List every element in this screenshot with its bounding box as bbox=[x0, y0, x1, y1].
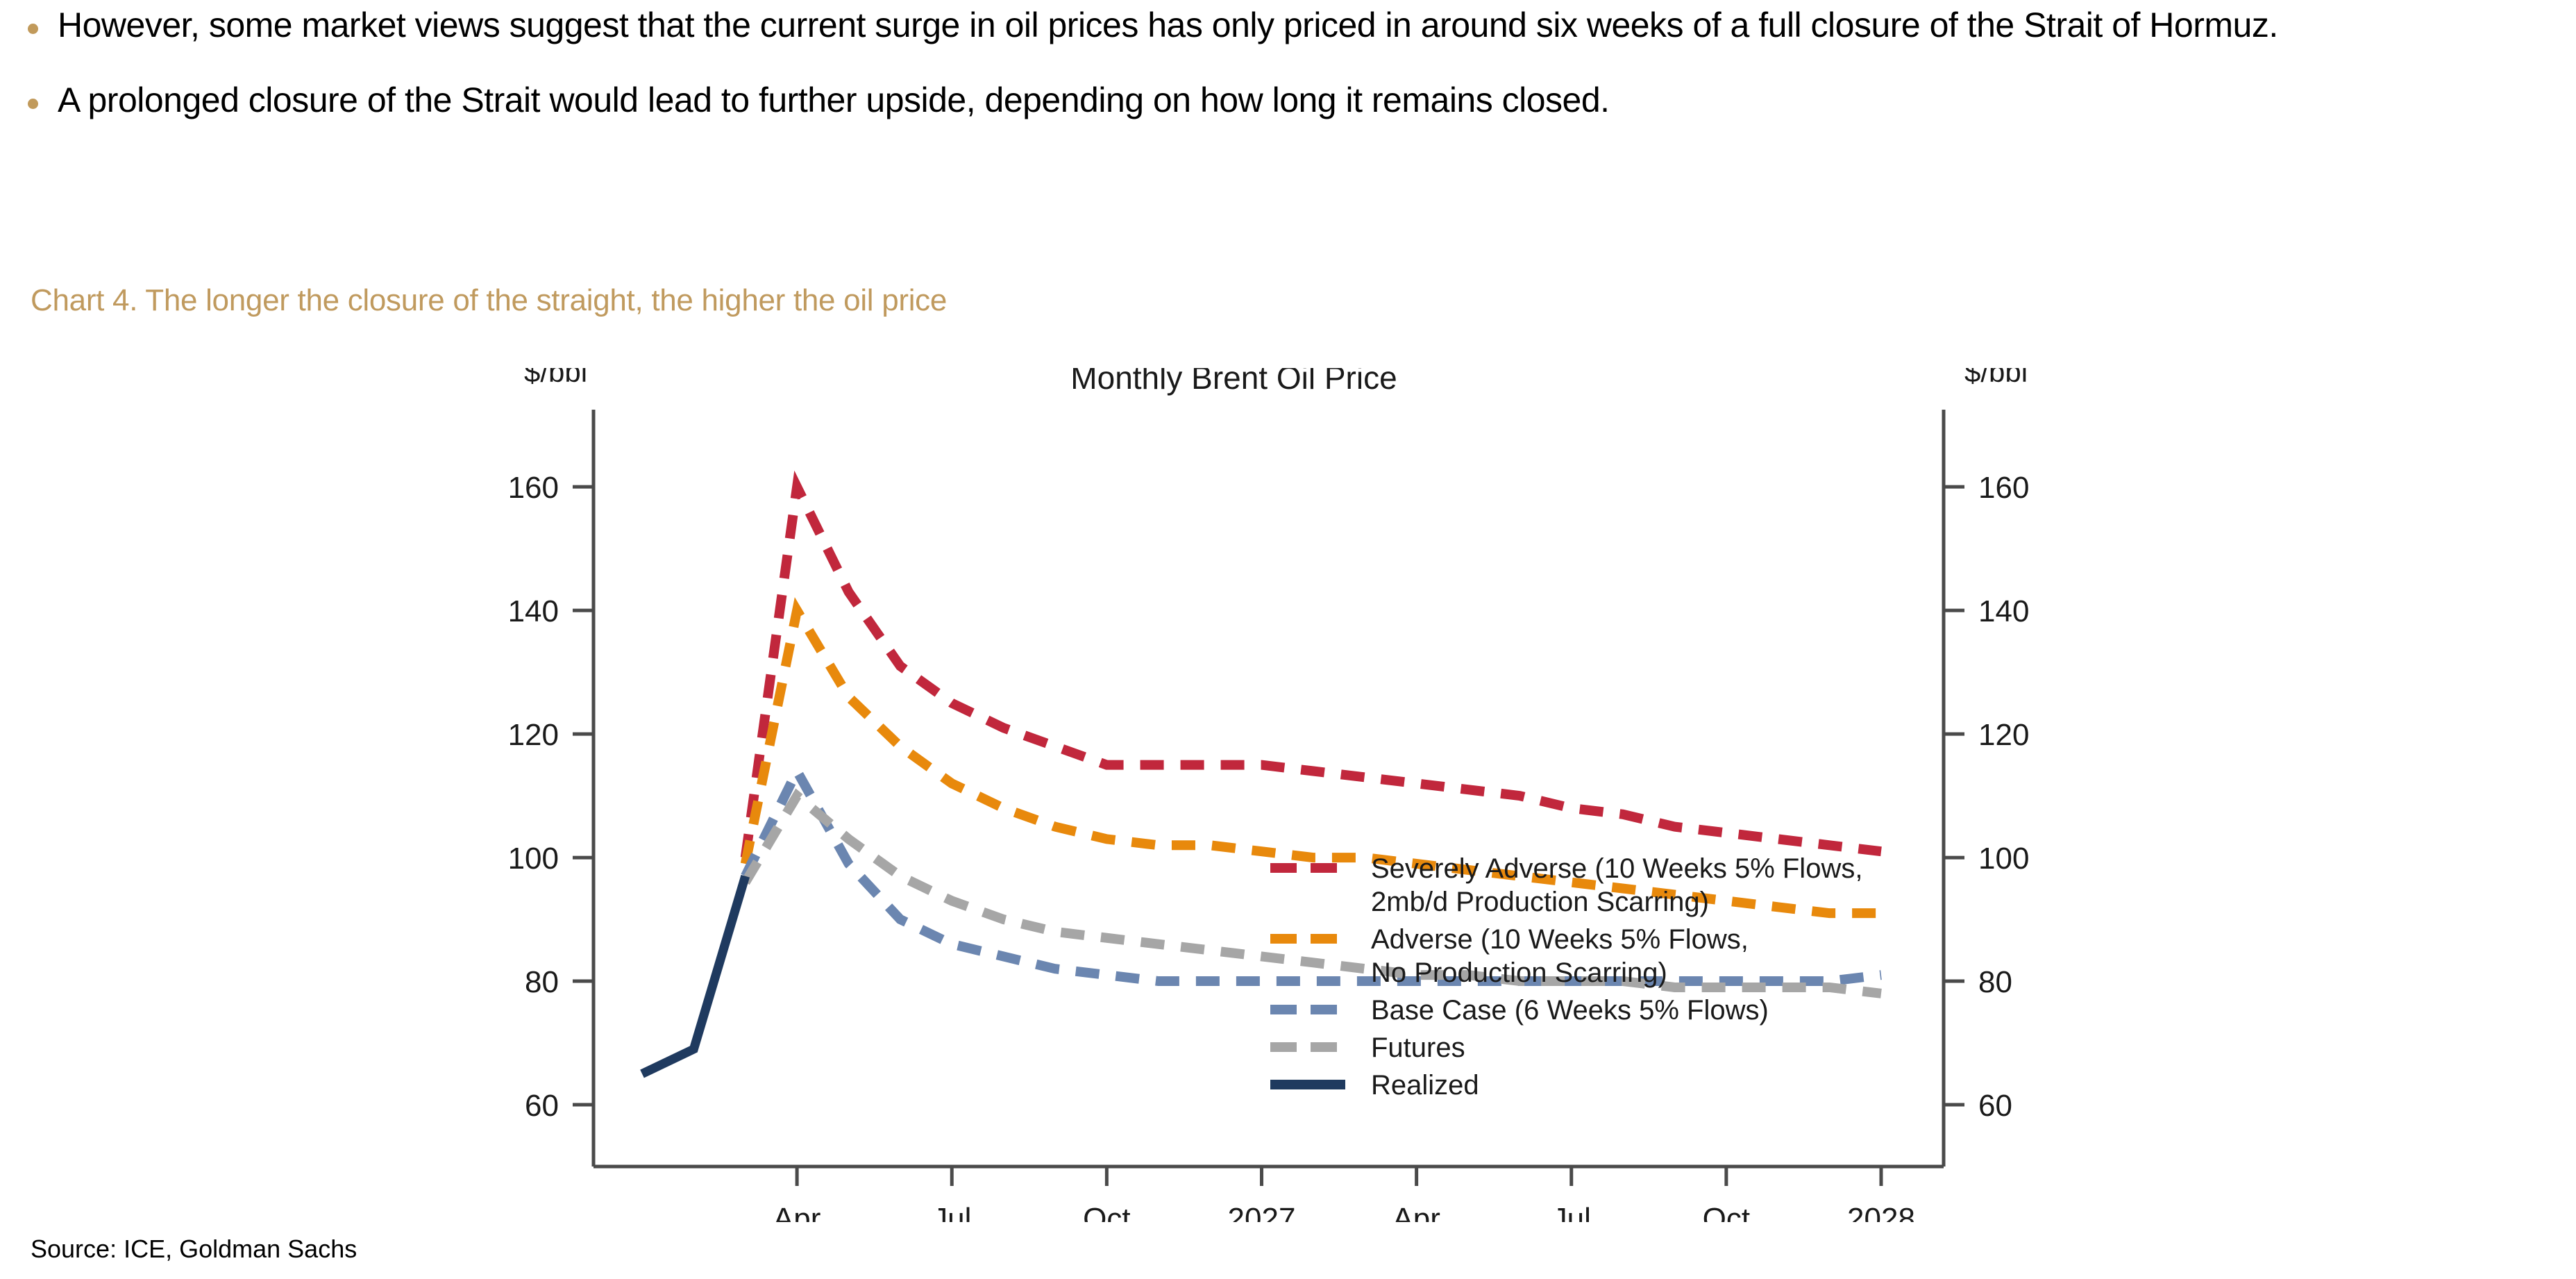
x-tick-label: Apr bbox=[1392, 1202, 1440, 1222]
list-item: However, some market views suggest that … bbox=[28, 1, 2554, 49]
x-tick-label: 2028 bbox=[1847, 1202, 1915, 1222]
y-tick-label-right: 60 bbox=[1978, 1089, 2012, 1123]
bullet-dot-icon bbox=[28, 99, 38, 109]
legend-label: Adverse (10 Weeks 5% Flows, bbox=[1371, 924, 1749, 955]
x-tick-label: Jul bbox=[932, 1202, 971, 1222]
x-tick-label: Oct bbox=[1703, 1202, 1750, 1222]
y-tick-label-right: 100 bbox=[1978, 842, 2029, 876]
y-tick-label-left: 140 bbox=[508, 594, 559, 628]
x-tick-label: Oct bbox=[1083, 1202, 1130, 1222]
series-line bbox=[642, 876, 746, 1074]
chart-container: 60608080100100120120140140160160$/bbl$/b… bbox=[0, 368, 2576, 1222]
y-axis-unit-left: $/bbl bbox=[524, 368, 587, 388]
y-tick-label-right: 120 bbox=[1978, 718, 2029, 752]
y-tick-label-right: 160 bbox=[1978, 471, 2029, 505]
legend-label: Realized bbox=[1371, 1070, 1479, 1101]
x-tick-label: 2027 bbox=[1228, 1202, 1296, 1222]
bullet-dot-icon bbox=[28, 24, 38, 34]
source-note: Source: ICE, Goldman Sachs bbox=[31, 1235, 357, 1264]
legend-label: Severely Adverse (10 Weeks 5% Flows, bbox=[1371, 853, 1862, 884]
y-tick-label-left: 120 bbox=[508, 718, 559, 752]
y-tick-label-left: 160 bbox=[508, 471, 559, 505]
x-tick-label: Apr bbox=[773, 1202, 820, 1222]
series-line bbox=[746, 487, 1881, 858]
legend-label: 2mb/d Production Scarring) bbox=[1371, 887, 1709, 917]
plot-title: Monthly Brent Oil Price bbox=[1070, 368, 1397, 396]
y-tick-label-left: 60 bbox=[525, 1089, 559, 1123]
chart-heading: Chart 4. The longer the closure of the s… bbox=[31, 283, 947, 318]
y-axis-unit-right: $/bbl bbox=[1964, 368, 2028, 388]
y-tick-label-left: 80 bbox=[525, 965, 559, 999]
brent-oil-price-chart: 60608080100100120120140140160160$/bbl$/b… bbox=[0, 368, 2576, 1222]
list-item: A prolonged closure of the Strait would … bbox=[28, 76, 2554, 124]
y-tick-label-right: 140 bbox=[1978, 594, 2029, 628]
legend-label: Futures bbox=[1371, 1033, 1465, 1063]
x-tick-label: Jul bbox=[1552, 1202, 1591, 1222]
legend-label: No Production Scarring) bbox=[1371, 958, 1667, 988]
y-tick-label-left: 100 bbox=[508, 842, 559, 876]
bullet-text: A prolonged closure of the Strait would … bbox=[58, 76, 1610, 124]
y-tick-label-right: 80 bbox=[1978, 965, 2012, 999]
legend-label: Base Case (6 Weeks 5% Flows) bbox=[1371, 995, 1769, 1026]
bullet-list: However, some market views suggest that … bbox=[28, 1, 2554, 151]
bullet-text: However, some market views suggest that … bbox=[58, 1, 2278, 49]
